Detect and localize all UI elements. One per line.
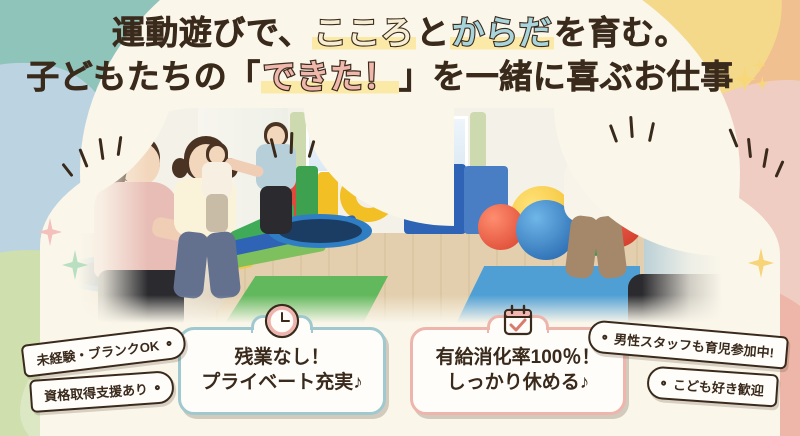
headline-line-1: 運動遊びで、こころとからだを育む。	[0, 14, 800, 53]
badge-no-overtime-line1: 残業なし！	[234, 346, 329, 371]
impact-lines-right	[728, 122, 786, 178]
sparkle-headline-tiny-icon	[756, 76, 769, 91]
recruitment-banner: 運動遊びで、こころとからだを育む。 子どもたちの「できた！」を一緒に喜ぶお仕事 …	[0, 0, 800, 436]
headline-line-2: 子どもたちの「できた！」を一緒に喜ぶお仕事	[0, 58, 800, 97]
badge-paid-leave-line1: 有給消化率100％！	[436, 346, 601, 371]
tag-dot-icon	[661, 380, 666, 385]
clock-icon	[261, 300, 303, 347]
child-girl-leg-left	[173, 231, 210, 300]
tag-male-staff-label: 男性スタッフも育児参加中!	[613, 329, 774, 362]
impact-lines-center	[268, 128, 328, 178]
headline-sparkle-group	[734, 64, 774, 94]
headline-l1-part5: を育む。	[554, 14, 688, 51]
child-girl-pigtail-left	[172, 158, 188, 178]
sparkle-headline-small-icon	[754, 58, 766, 72]
badge-no-overtime-line2: プライベート充実♪	[201, 371, 363, 396]
tag-kids-lovers-label: こども好き歓迎	[672, 374, 764, 399]
impact-lines-boy	[608, 112, 668, 162]
calendar-check-icon	[497, 300, 539, 347]
staff-background-pants	[260, 186, 292, 234]
tag-dot-icon	[602, 334, 607, 339]
headline-l1-part3: と	[416, 14, 450, 51]
sparkle-headline-large-icon	[734, 66, 756, 92]
headline-l2-dekita: できた！	[261, 58, 399, 95]
impact-lines-left	[60, 128, 130, 183]
tag-qualification-support-label: 資格取得支援あり	[43, 379, 148, 405]
headline-l1-kokoro: こころ	[312, 14, 417, 51]
headline-l2-part1: 子どもたちの「	[26, 58, 261, 95]
headline-l1-karada: からだ	[450, 14, 555, 51]
badge-paid-leave-line2: しっかり休める♪	[447, 371, 590, 396]
headline-l2-part3: 」を一緒に喜ぶお仕事	[399, 58, 734, 95]
child-background-shirt	[202, 162, 232, 198]
photo-fade-bottom	[78, 295, 722, 323]
badge-no-overtime: 残業なし！ プライベート充実♪	[178, 327, 386, 415]
headline-l1-part1: 運動遊びで、	[112, 14, 312, 51]
headline: 運動遊びで、こころとからだを育む。 子どもたちの「できた！」を一緒に喜ぶお仕事	[0, 14, 800, 97]
child-girl-leg-right	[205, 231, 242, 300]
tag-dot-icon	[155, 385, 160, 390]
child-background-pants	[206, 194, 228, 232]
tag-dot-icon	[166, 341, 172, 347]
child-background	[196, 142, 240, 234]
